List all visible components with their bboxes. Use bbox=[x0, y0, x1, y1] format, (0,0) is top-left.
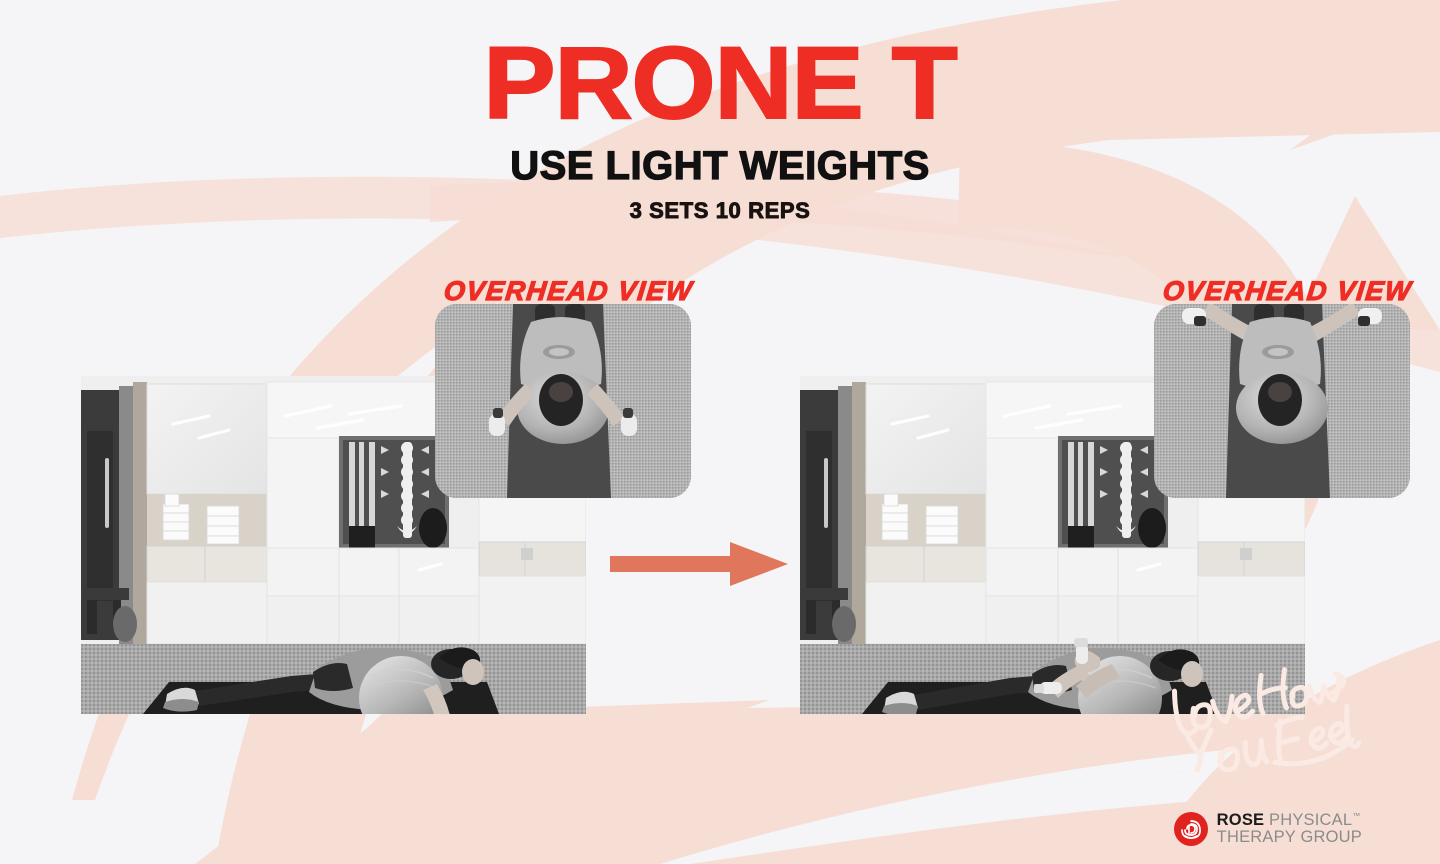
page-title: PRONE T bbox=[0, 34, 1440, 134]
overhead-view-label-end: OVERHEAD VIEW bbox=[1161, 276, 1413, 307]
rose-logo-icon bbox=[1174, 812, 1208, 846]
sets-reps-text: 3 SETS 10 REPS bbox=[0, 200, 1440, 222]
page-subtitle: USE LIGHT WEIGHTS bbox=[0, 146, 1440, 186]
trademark-symbol: ™ bbox=[1352, 812, 1360, 821]
logo-name-bold: ROSE bbox=[1217, 811, 1265, 829]
brand-tagline-script bbox=[1172, 667, 1362, 772]
overhead-inset-start bbox=[435, 304, 691, 498]
rose-physical-therapy-logo[interactable]: ROSE PHYSICAL™ THERAPY GROUP bbox=[1174, 812, 1362, 846]
logo-name-light: PHYSICAL bbox=[1264, 811, 1352, 829]
overhead-inset-end bbox=[1154, 304, 1410, 498]
heading-block: PRONE T USE LIGHT WEIGHTS 3 SETS 10 REPS bbox=[0, 34, 1440, 222]
logo-name-line2: THERAPY GROUP bbox=[1217, 829, 1362, 846]
overhead-view-label-start: OVERHEAD VIEW bbox=[442, 276, 694, 307]
exercise-card: PRONE T USE LIGHT WEIGHTS 3 SETS 10 REPS bbox=[0, 0, 1440, 864]
progress-arrow-icon bbox=[610, 538, 790, 590]
logo-wordmark: ROSE PHYSICAL™ THERAPY GROUP bbox=[1217, 812, 1362, 846]
